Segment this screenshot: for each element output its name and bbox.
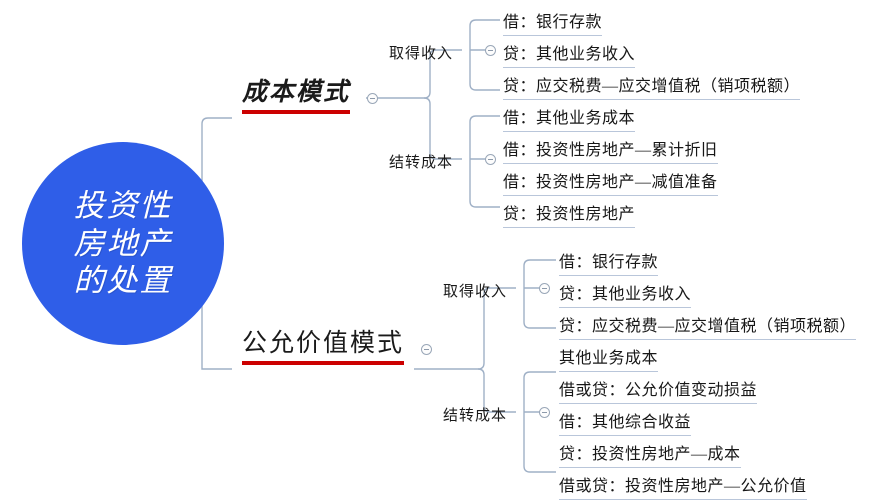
branch-cost-model[interactable]: 成本模式 xyxy=(236,80,356,119)
collapse-toggle-cost-model[interactable] xyxy=(367,93,378,104)
center-node[interactable]: 投资性 房地产 的处置 xyxy=(22,142,224,345)
collapse-toggle-cost-revenue[interactable] xyxy=(485,45,496,56)
leaf-item[interactable]: 贷：投资性房地产 xyxy=(503,200,635,228)
leaf-item[interactable]: 借：其他综合收益 xyxy=(559,408,691,436)
leaf-item[interactable]: 借：银行存款 xyxy=(559,248,658,276)
leaf-item[interactable]: 借或贷：公允价值变动损益 xyxy=(559,376,757,404)
group-label-cost-carryover[interactable]: 结转成本 xyxy=(389,151,453,172)
collapse-toggle-fair-value-model[interactable] xyxy=(421,344,432,355)
collapse-toggle-fair-revenue[interactable] xyxy=(539,283,550,294)
leaf-item[interactable]: 其他业务成本 xyxy=(559,344,658,372)
leaf-item[interactable]: 贷：投资性房地产—成本 xyxy=(559,440,741,468)
leaf-item[interactable]: 借或贷：投资性房地产—公允价值 xyxy=(559,472,807,500)
leaf-item[interactable]: 借：投资性房地产—累计折旧 xyxy=(503,136,718,164)
leaf-item[interactable]: 贷：其他业务收入 xyxy=(559,280,691,308)
branch-fair-value-model-label: 公允价值模式 xyxy=(242,331,404,357)
group-label-cost-revenue[interactable]: 取得收入 xyxy=(389,42,453,63)
leaf-item[interactable]: 借：其他业务成本 xyxy=(503,104,635,132)
leaf-item[interactable]: 贷：应交税费—应交增值税（销项税额） xyxy=(503,72,800,100)
branch-cost-model-label: 成本模式 xyxy=(242,80,350,106)
collapse-toggle-fair-carryover[interactable] xyxy=(539,407,550,418)
group-label-fair-carryover[interactable]: 结转成本 xyxy=(443,404,507,425)
leaf-item[interactable]: 借：投资性房地产—减值准备 xyxy=(503,168,718,196)
mindmap-canvas: 投资性 房地产 的处置 成本模式 取得收入 结转成本 借：银行存款 贷：其他业务… xyxy=(0,0,895,500)
branch-cost-model-underline xyxy=(242,110,350,114)
center-node-label: 投资性 房地产 的处置 xyxy=(74,187,173,300)
collapse-toggle-cost-carryover[interactable] xyxy=(485,154,496,165)
leaf-item[interactable]: 贷：应交税费—应交增值税（销项税额） xyxy=(559,312,856,340)
leaf-item[interactable]: 借：银行存款 xyxy=(503,8,602,36)
leaf-item[interactable]: 贷：其他业务收入 xyxy=(503,40,635,68)
branch-fair-value-model-underline xyxy=(242,361,404,365)
group-label-fair-revenue[interactable]: 取得收入 xyxy=(443,280,507,301)
branch-fair-value-model[interactable]: 公允价值模式 xyxy=(236,331,410,370)
